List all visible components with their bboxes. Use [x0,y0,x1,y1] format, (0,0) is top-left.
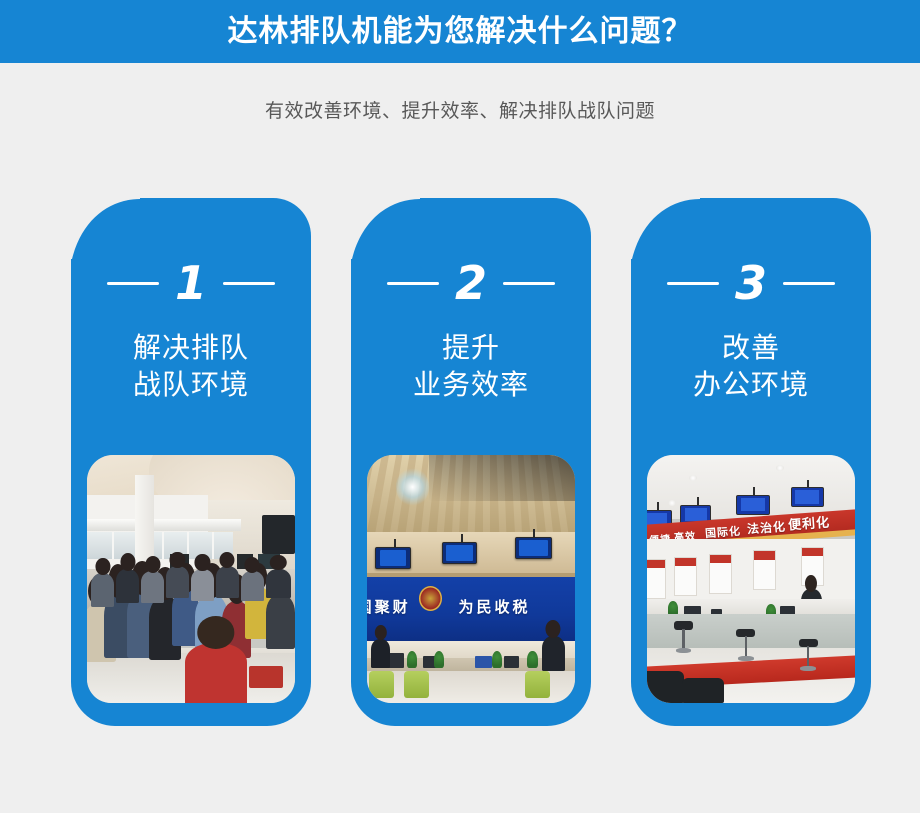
wall-text-right: 为民收税 [459,596,531,617]
card-corner-notch-icon [630,197,700,259]
divider-line-left [667,282,719,285]
card-title-2: 提升 业务效率 [351,329,591,403]
card-title-line-1: 解决排队 [71,329,311,366]
feature-card-list: 1 解决排队 战队环境 [0,198,920,728]
page-root: 达林排队机能为您解决什么问题？ 有效改善环境、提升效率、解决排队战队问题 1 解… [0,0,920,813]
card-number: 2 [455,260,487,306]
feature-card-3[interactable]: 3 改善 办公环境 [631,198,871,726]
tax-office-counter-photo: 国聚财 为民收税 [367,455,575,703]
header-bar: 达林排队机能为您解决什么问题？ [0,0,920,63]
card-title-line-2: 战队环境 [71,366,311,403]
card-number-row-2: 2 [351,260,591,306]
card-corner-notch-icon [70,197,140,259]
card-number: 1 [175,260,207,306]
card-title-line-2: 办公环境 [631,366,871,403]
card-number-row-3: 3 [631,260,871,306]
card-title-1: 解决排队 战队环境 [71,329,311,403]
feature-card-1[interactable]: 1 解决排队 战队环境 [71,198,311,726]
divider-line-left [107,282,159,285]
card-number-row-1: 1 [71,260,311,306]
feature-card-2[interactable]: 2 提升 业务效率 [351,198,591,726]
card-corner-notch-icon [350,197,420,259]
page-subtitle: 有效改善环境、提升效率、解决排队战队问题 [0,96,920,123]
divider-line-right [783,282,835,285]
divider-line-left [387,282,439,285]
banner-item-3: 法治化 [746,518,786,538]
crowded-service-hall-photo [87,455,295,703]
wall-text-left: 国聚财 [367,596,411,617]
banner-item-4: 便利化 [788,512,831,534]
card-title-line-1: 提升 [351,329,591,366]
tax-emblem-icon [419,586,442,611]
page-title: 达林排队机能为您解决什么问题？ [228,17,693,47]
card-title-line-2: 业务效率 [351,366,591,403]
card-title-3: 改善 办公环境 [631,329,871,403]
card-number: 3 [735,260,767,306]
government-service-counter-photo: 便捷 高效 国际化 法治化 便利化 [647,455,855,703]
divider-line-right [503,282,555,285]
divider-line-right [223,282,275,285]
card-title-line-1: 改善 [631,329,871,366]
